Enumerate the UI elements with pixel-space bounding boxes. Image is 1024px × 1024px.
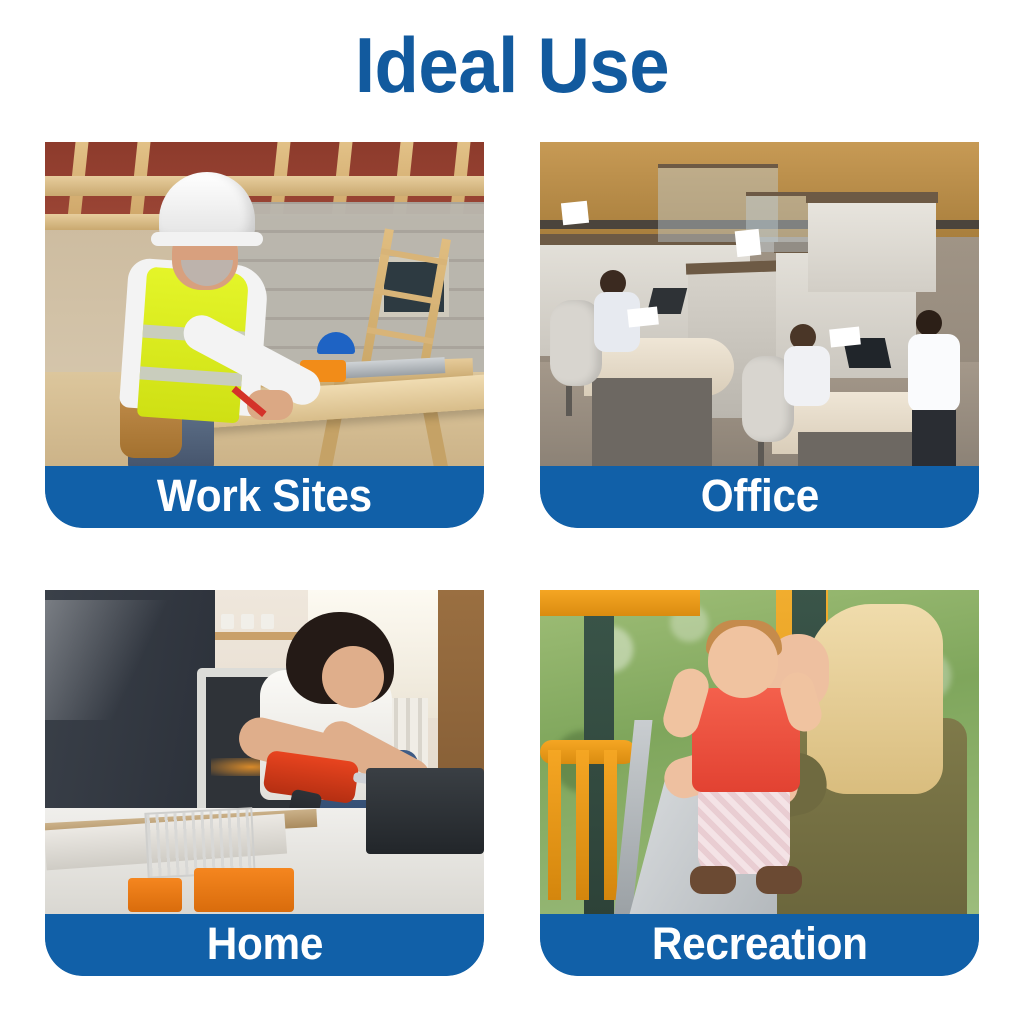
work-site-photo bbox=[45, 142, 484, 472]
office-photo bbox=[540, 142, 979, 472]
page-title: Ideal Use bbox=[36, 26, 988, 104]
card-label-text: Office bbox=[700, 473, 818, 518]
card-label-recreation: Recreation bbox=[540, 914, 979, 976]
card-label-text: Work Sites bbox=[157, 473, 372, 518]
use-case-card-work-sites[interactable]: Work Sites bbox=[45, 142, 484, 528]
use-case-grid: Work Sites bbox=[45, 142, 979, 976]
use-case-card-recreation[interactable]: Recreation bbox=[540, 590, 979, 976]
card-label-home: Home bbox=[45, 914, 484, 976]
card-label-text: Home bbox=[206, 921, 322, 966]
card-label-work-sites: Work Sites bbox=[45, 466, 484, 528]
ideal-use-infographic: Ideal Use bbox=[0, 0, 1024, 1024]
use-case-card-office[interactable]: Office bbox=[540, 142, 979, 528]
recreation-photo bbox=[540, 590, 979, 920]
home-photo bbox=[45, 590, 484, 920]
use-case-card-home[interactable]: Home bbox=[45, 590, 484, 976]
card-label-text: Recreation bbox=[652, 921, 868, 966]
card-label-office: Office bbox=[540, 466, 979, 528]
